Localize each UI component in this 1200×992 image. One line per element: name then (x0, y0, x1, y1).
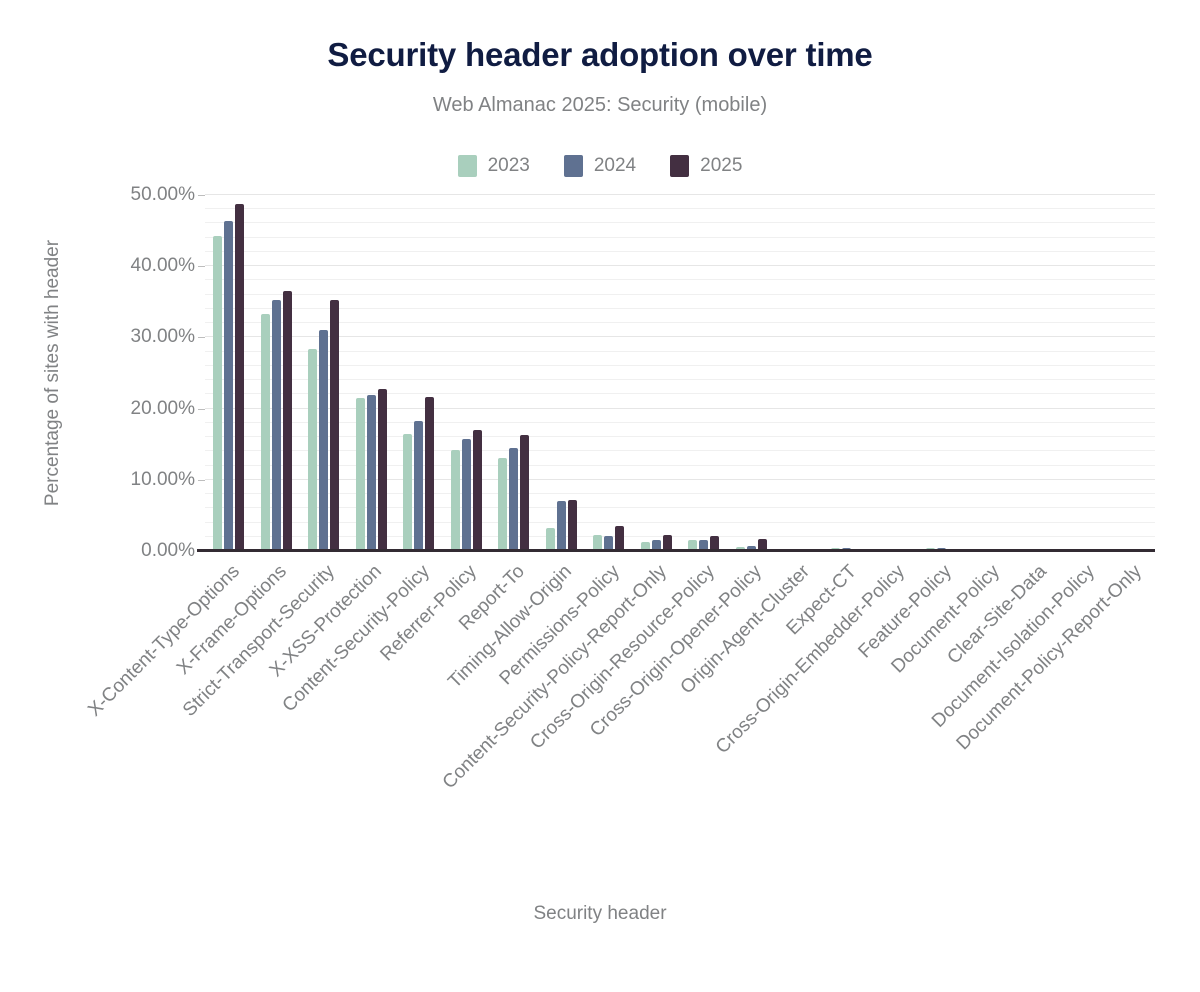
legend-label: 2024 (594, 155, 636, 177)
bar-group[interactable] (633, 195, 681, 551)
bar-group[interactable] (918, 195, 966, 551)
legend-label: 2023 (488, 155, 530, 177)
bar-groups (205, 195, 1155, 551)
bar[interactable] (356, 398, 365, 551)
bar[interactable] (462, 439, 471, 551)
bar-group[interactable] (538, 195, 586, 551)
y-axis-tick-mark (198, 409, 205, 410)
y-axis-tick-label: 0.00% (0, 540, 195, 562)
bar[interactable] (367, 395, 376, 551)
bar[interactable] (546, 528, 555, 551)
y-axis-tick-label: 40.00% (0, 255, 195, 277)
y-axis-title-text: Percentage of sites with header (42, 240, 64, 506)
bar[interactable] (403, 434, 412, 551)
legend-item-2025[interactable]: 2025 (670, 155, 742, 177)
chart-legend: 202320242025 (0, 155, 1200, 177)
y-axis-tick-mark (198, 195, 205, 196)
bar-group[interactable] (253, 195, 301, 551)
y-axis-tick-mark (198, 337, 205, 338)
legend-swatch-icon (670, 155, 689, 177)
x-axis-title: Security header (0, 903, 1200, 925)
bar-group[interactable] (300, 195, 348, 551)
bar-group[interactable] (1060, 195, 1108, 551)
bar-group[interactable] (443, 195, 491, 551)
bar[interactable] (568, 500, 577, 551)
bar[interactable] (261, 314, 270, 551)
bar[interactable] (425, 397, 434, 551)
bar[interactable] (378, 389, 387, 551)
bar-group[interactable] (870, 195, 918, 551)
bar-group[interactable] (348, 195, 396, 551)
bar-group[interactable] (395, 195, 443, 551)
bar[interactable] (509, 448, 518, 551)
bar[interactable] (520, 435, 529, 551)
bar[interactable] (235, 204, 244, 551)
bar[interactable] (615, 526, 624, 551)
y-axis-tick-mark (198, 480, 205, 481)
bar[interactable] (213, 236, 222, 551)
legend-item-2023[interactable]: 2023 (458, 155, 530, 177)
bar-group[interactable] (823, 195, 871, 551)
bar-group[interactable] (205, 195, 253, 551)
bar[interactable] (473, 430, 482, 551)
bar[interactable] (557, 501, 566, 551)
legend-swatch-icon (564, 155, 583, 177)
bar-group[interactable] (585, 195, 633, 551)
legend-item-2024[interactable]: 2024 (564, 155, 636, 177)
bar-group[interactable] (1108, 195, 1156, 551)
plot-area (205, 195, 1155, 551)
y-axis-tick-label: 50.00% (0, 184, 195, 206)
bar-group[interactable] (728, 195, 776, 551)
y-axis-tick-label: 20.00% (0, 398, 195, 420)
chart-figure: Security header adoption over time Web A… (0, 0, 1200, 992)
bar[interactable] (498, 458, 507, 551)
y-axis-tick-mark (198, 266, 205, 267)
bar[interactable] (451, 450, 460, 551)
bar[interactable] (308, 349, 317, 551)
chart-title: Security header adoption over time (0, 36, 1200, 74)
bar[interactable] (330, 300, 339, 551)
legend-label: 2025 (700, 155, 742, 177)
bar[interactable] (224, 221, 233, 551)
bar-group[interactable] (775, 195, 823, 551)
chart-subtitle: Web Almanac 2025: Security (mobile) (0, 94, 1200, 117)
bar-group[interactable] (680, 195, 728, 551)
bar[interactable] (283, 291, 292, 551)
bar[interactable] (272, 300, 281, 551)
bar[interactable] (414, 421, 423, 551)
y-axis-tick-label: 10.00% (0, 469, 195, 491)
bar-group[interactable] (1013, 195, 1061, 551)
x-axis-tick-labels: X-Content-Type-OptionsX-Frame-OptionsStr… (205, 551, 1155, 552)
bar[interactable] (319, 330, 328, 551)
y-axis-tick-label: 30.00% (0, 326, 195, 348)
bar-group[interactable] (490, 195, 538, 551)
legend-swatch-icon (458, 155, 477, 177)
bar-group[interactable] (965, 195, 1013, 551)
